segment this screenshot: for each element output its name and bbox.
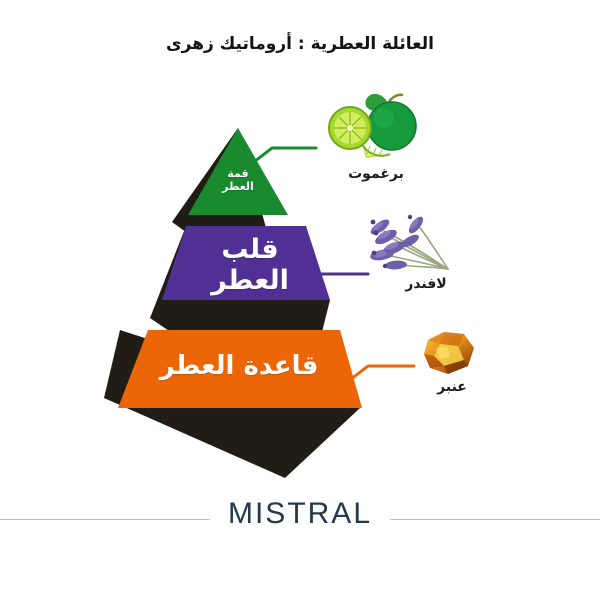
tier-heart-label: قلب العطر xyxy=(186,234,314,296)
page-title: العائلة العطرية : أروماتيك زهرى xyxy=(0,34,600,54)
lavender-sprig-icon xyxy=(356,211,462,275)
note-label-amber: عنبر xyxy=(404,379,500,395)
connector-bergamot xyxy=(250,148,316,165)
brand-lockup: MISTRAL xyxy=(0,497,600,531)
bergamot-citrus-icon xyxy=(326,88,426,162)
brand-name: MISTRAL xyxy=(210,497,390,531)
perfume-pyramid-infographic: العائلة العطرية : أروماتيك زهرى قمة العط… xyxy=(0,0,600,600)
tier-base-label: قاعدة العطر xyxy=(122,352,356,382)
amber-stone-icon xyxy=(414,328,486,378)
connector-amber xyxy=(350,366,414,380)
note-label-bergamot: برغموت xyxy=(322,166,430,182)
tier-top-label: قمة العطر xyxy=(206,168,270,193)
note-label-lavender: لافندر xyxy=(372,276,480,292)
connector-lavender xyxy=(305,274,368,290)
